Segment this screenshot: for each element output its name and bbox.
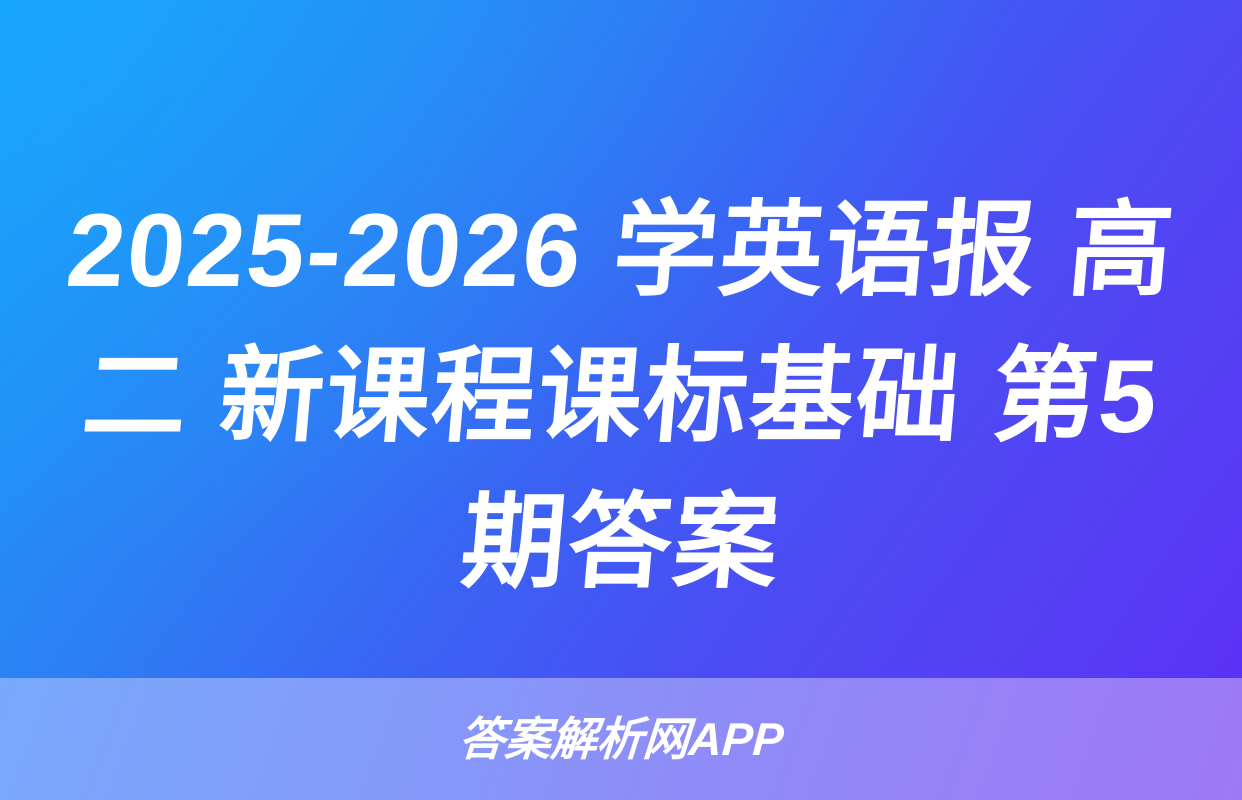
footer-watermark-band: 答案解析网APP bbox=[0, 678, 1242, 800]
title-line-3: 期答案 bbox=[42, 470, 1201, 616]
cover-card: 2025-2026 学英语报 高 二 新课程课标基础 第5 期答案 答案解析网A… bbox=[0, 0, 1242, 800]
title-line-2: 二 新课程课标基础 第5 bbox=[42, 324, 1201, 470]
app-watermark-label: 答案解析网APP bbox=[457, 713, 785, 765]
page-title: 2025-2026 学英语报 高 二 新课程课标基础 第5 期答案 bbox=[0, 178, 1242, 616]
title-line-1: 2025-2026 学英语报 高 bbox=[42, 178, 1201, 324]
